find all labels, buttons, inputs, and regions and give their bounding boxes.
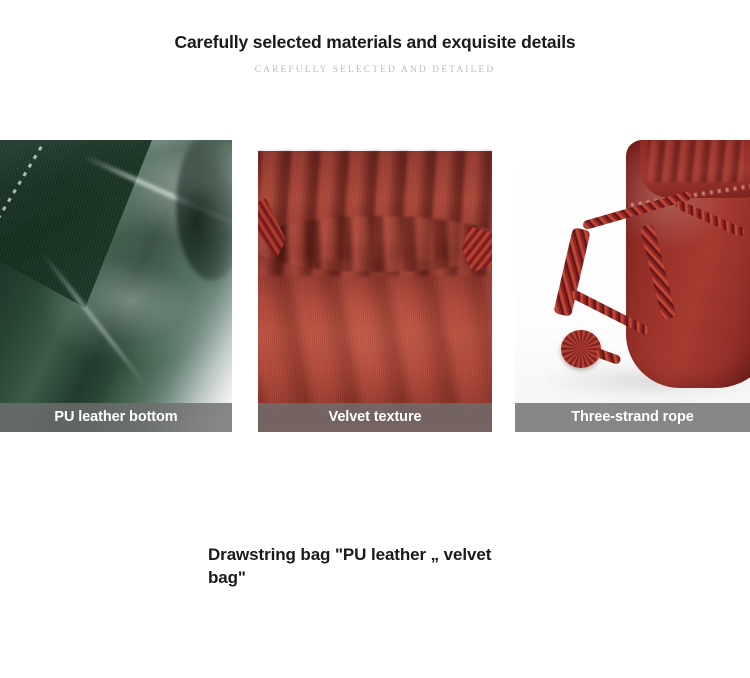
velvet-photo-top-margin — [258, 140, 492, 151]
rope-knot-detail — [561, 330, 601, 368]
leather-shadow-edge — [176, 140, 232, 280]
page-subtitle: CAREFULLY SELECTED AND DETAILED — [0, 63, 750, 77]
caption-label: PU leather bottom — [54, 403, 177, 432]
red-bag-velvet-lining-detail — [648, 140, 744, 182]
gallery-panel-velvet-texture[interactable]: Velvet texture — [258, 140, 492, 432]
section-header: Carefully selected materials and exquisi… — [0, 0, 750, 140]
rope-knot-tail-detail — [594, 348, 622, 365]
caption-bar-three-strand-rope: Three-strand rope — [515, 403, 750, 432]
caption-label: Velvet texture — [329, 403, 422, 432]
caption-bar-pu-leather-bottom: PU leather bottom — [0, 403, 232, 432]
product-detail-page: Carefully selected materials and exquisi… — [0, 0, 750, 678]
green-velvet-lining-detail — [0, 140, 152, 308]
gallery-panel-pu-leather-bottom[interactable]: PU leather bottom — [0, 140, 232, 432]
caption-label: Three-strand rope — [571, 403, 693, 432]
gallery-panel-three-strand-rope[interactable]: Three-strand rope — [515, 140, 750, 432]
three-strand-rope-photo — [515, 140, 750, 432]
product-name: Drawstring bag "PU leather „ velvet bag" — [208, 543, 528, 589]
page-title: Carefully selected materials and exquisi… — [0, 31, 750, 53]
caption-bar-velvet-texture: Velvet texture — [258, 403, 492, 432]
material-gallery: PU leather bottom Velvet texture — [0, 140, 750, 432]
velvet-skirt-folds-detail — [258, 260, 492, 420]
green-pu-leather-bottom-photo — [0, 140, 232, 432]
product-description-block: Drawstring bag "PU leather „ velvet bag" — [208, 543, 528, 589]
red-velvet-texture-photo — [258, 140, 492, 432]
